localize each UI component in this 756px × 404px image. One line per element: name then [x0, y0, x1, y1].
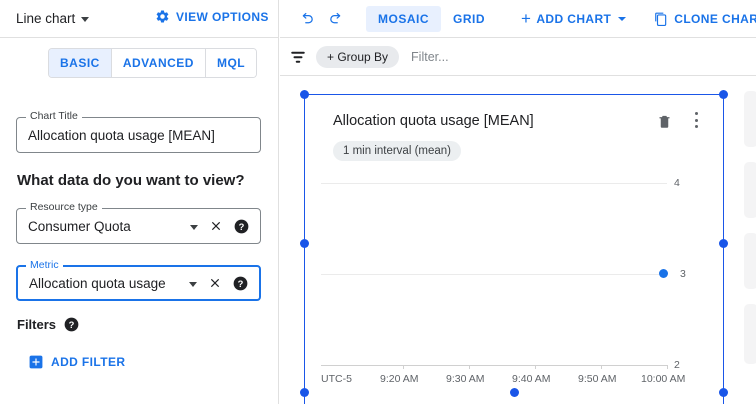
chart-type-dropdown[interactable]: Line chart	[16, 11, 89, 26]
dot	[695, 112, 698, 115]
chevron-down-icon	[81, 17, 89, 22]
chart-title-input[interactable]: Allocation quota usage [MEAN]	[17, 128, 260, 143]
x-tick-mark	[667, 365, 668, 369]
metric-value[interactable]: Allocation quota usage	[18, 276, 189, 291]
trash-icon[interactable]	[657, 113, 672, 130]
more-vert-icon[interactable]	[695, 112, 699, 130]
svg-text:?: ?	[69, 320, 75, 330]
tab-basic[interactable]: BASIC	[49, 49, 112, 77]
add-filter-label: ADD FILTER	[51, 355, 125, 369]
help-icon[interactable]: ?	[234, 219, 249, 234]
resize-handle-top-left[interactable]	[300, 90, 309, 99]
gear-icon	[155, 9, 170, 24]
x-tick-mark	[469, 365, 470, 369]
interval-chip: 1 min interval (mean)	[333, 141, 461, 161]
filter-list-icon[interactable]	[289, 48, 307, 66]
view-options-label: VIEW OPTIONS	[176, 10, 269, 24]
chart-canvas: Allocation quota usage [MEAN] 1 min inte…	[280, 77, 756, 404]
dot	[695, 125, 698, 128]
chevron-down-icon	[618, 17, 626, 21]
tab-advanced[interactable]: ADVANCED	[112, 49, 206, 77]
app-root: Line chart VIEW OPTIONS BASIC ADVANCED M…	[0, 0, 756, 404]
gridline-4	[321, 183, 667, 184]
x-tick-label: 9:20 AM	[380, 373, 419, 385]
add-box-icon	[29, 355, 43, 369]
chevron-down-icon[interactable]	[190, 225, 198, 230]
y-tick-label: 3	[680, 269, 686, 279]
tab-mql[interactable]: MQL	[206, 49, 256, 77]
chart-title-label: Chart Title	[26, 111, 82, 122]
x-tick-label: 9:50 AM	[578, 373, 617, 385]
add-chart-label: ADD CHART	[536, 12, 611, 26]
chevron-down-icon[interactable]	[189, 282, 197, 287]
y-tick-label: 4	[674, 178, 680, 188]
chart-type-label: Line chart	[16, 11, 75, 26]
undo-icon	[298, 10, 315, 27]
y-tick-label: 2	[674, 360, 680, 370]
view-mode-toggle: MOSAIC GRID	[366, 6, 497, 32]
x-tick-mark	[535, 365, 536, 369]
copy-icon	[654, 12, 668, 26]
filter-input[interactable]	[409, 49, 529, 65]
redo-button[interactable]	[328, 8, 345, 30]
x-axis-line	[321, 365, 667, 366]
redo-icon	[328, 10, 345, 27]
dashboard-toolbar: MOSAIC GRID + ADD CHART CLONE CHART	[280, 0, 756, 38]
dot	[695, 119, 698, 122]
add-filter-button[interactable]: ADD FILTER	[29, 355, 125, 369]
resize-handle-bottom-center[interactable]	[510, 388, 519, 397]
resize-handle-middle-right[interactable]	[719, 239, 728, 248]
view-options-button[interactable]: VIEW OPTIONS	[155, 9, 269, 24]
chart-plot-area: 4 3 2 UTC-5 9:20 AM 9:30 AM 9:40 AM 9:50…	[321, 183, 709, 388]
resource-type-actions: ?	[190, 219, 260, 234]
resize-handle-middle-left[interactable]	[300, 239, 309, 248]
svg-text:?: ?	[239, 221, 245, 231]
metric-field[interactable]: Metric Allocation quota usage ?	[16, 265, 261, 301]
resize-handle-bottom-right[interactable]	[719, 388, 728, 397]
x-tick-label: 9:40 AM	[512, 373, 551, 385]
x-tick-label: 10:00 AM	[641, 373, 685, 385]
resize-handle-bottom-left[interactable]	[300, 388, 309, 397]
filters-label: Filters	[17, 317, 56, 332]
clear-icon[interactable]	[209, 219, 223, 233]
chart-title-field[interactable]: Chart Title Allocation quota usage [MEAN…	[16, 117, 261, 153]
resource-type-value[interactable]: Consumer Quota	[17, 219, 190, 234]
view-mode-grid[interactable]: GRID	[441, 6, 497, 32]
dashboard-filter-bar: + Group By	[280, 38, 756, 76]
undo-button[interactable]	[298, 8, 315, 30]
data-section-heading: What data do you want to view?	[17, 172, 245, 189]
dashboard-area: MOSAIC GRID + ADD CHART CLONE CHART	[280, 0, 756, 404]
chart-editor-panel: Line chart VIEW OPTIONS BASIC ADVANCED M…	[0, 0, 279, 404]
view-mode-mosaic[interactable]: MOSAIC	[366, 6, 441, 32]
plus-icon: +	[521, 12, 531, 25]
gridline-3	[321, 274, 667, 275]
editor-tabs: BASIC ADVANCED MQL	[48, 48, 257, 78]
editor-tabs-row: BASIC ADVANCED MQL	[0, 48, 279, 82]
edge-card-partial[interactable]	[744, 304, 756, 364]
group-by-label: + Group By	[327, 50, 388, 64]
edge-card-partial[interactable]	[744, 91, 756, 147]
group-by-chip[interactable]: + Group By	[316, 46, 399, 68]
filters-section: Filters ?	[17, 317, 79, 332]
resource-type-field[interactable]: Resource type Consumer Quota ?	[16, 208, 261, 244]
edge-card-partial[interactable]	[744, 162, 756, 218]
clone-chart-button[interactable]: CLONE CHART	[654, 12, 756, 26]
svg-text:?: ?	[238, 278, 244, 288]
timezone-label: UTC-5	[321, 373, 352, 385]
edge-card-partial[interactable]	[744, 233, 756, 289]
data-point[interactable]	[659, 269, 668, 278]
chart-card-title: Allocation quota usage [MEAN]	[333, 113, 534, 129]
x-tick-mark	[601, 365, 602, 369]
chart-card[interactable]: Allocation quota usage [MEAN] 1 min inte…	[304, 94, 724, 404]
add-chart-button[interactable]: + ADD CHART	[521, 12, 626, 26]
help-icon[interactable]: ?	[64, 317, 79, 332]
clone-chart-label: CLONE CHART	[674, 12, 756, 26]
metric-actions: ?	[189, 276, 259, 291]
x-tick-mark	[403, 365, 404, 369]
help-icon[interactable]: ?	[233, 276, 248, 291]
resize-handle-top-right[interactable]	[719, 90, 728, 99]
x-tick-label: 9:30 AM	[446, 373, 485, 385]
clear-icon[interactable]	[208, 276, 222, 290]
editor-header: Line chart VIEW OPTIONS	[0, 0, 279, 38]
resource-type-label: Resource type	[26, 202, 102, 213]
metric-label: Metric	[26, 260, 63, 271]
